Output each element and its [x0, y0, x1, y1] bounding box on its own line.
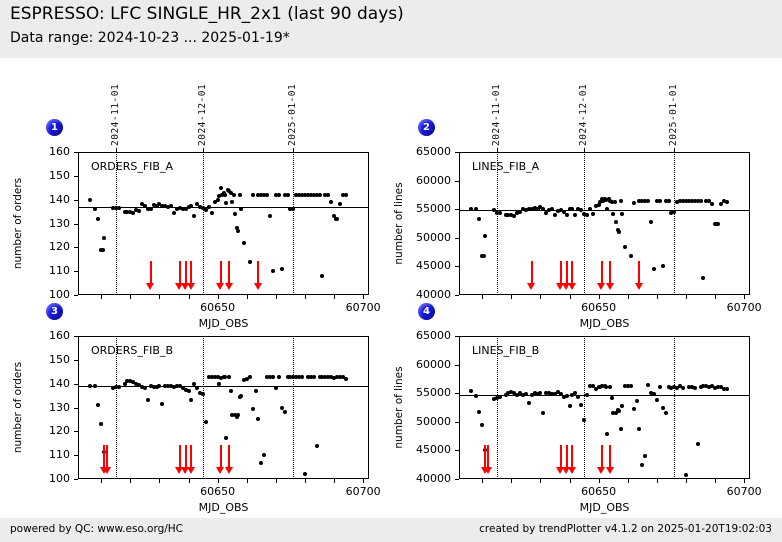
flag-arrow-shaft	[571, 261, 573, 283]
date-gridline-label: 2025-01-01	[287, 74, 298, 146]
y-axis-title: number of lines	[393, 152, 405, 295]
date-gridline	[584, 336, 585, 479]
data-point	[239, 394, 243, 398]
date-gridline	[584, 152, 585, 295]
flag-arrow	[103, 445, 112, 474]
y-tick-label: 40000	[397, 288, 451, 301]
x-tick-label: 60650	[178, 301, 258, 314]
data-point	[300, 375, 304, 379]
data-point	[553, 213, 557, 217]
data-point	[88, 384, 92, 388]
data-point	[232, 193, 236, 197]
y-tick-mark	[74, 479, 78, 480]
x-tick-mark	[363, 479, 364, 483]
x-tick-mark	[159, 479, 160, 483]
y-tick-mark	[74, 271, 78, 272]
data-point	[617, 230, 621, 234]
panel-badge-2[interactable]: 2	[418, 119, 435, 136]
panel-badge-4[interactable]: 4	[418, 303, 435, 320]
y-tick-label: 150	[16, 169, 70, 182]
x-tick-mark	[101, 479, 102, 483]
reference-line	[78, 207, 369, 208]
flag-arrow	[146, 261, 155, 290]
flag-arrow-shaft	[150, 261, 152, 283]
y-tick-mark	[74, 408, 78, 409]
data-point	[579, 403, 583, 407]
flag-arrow-shaft	[609, 261, 611, 283]
top-tick-mark	[584, 148, 585, 152]
flag-arrow-shaft	[228, 445, 230, 467]
y-axis-title: number of orders	[12, 152, 24, 295]
x-tick-mark	[599, 479, 600, 483]
date-gridline	[203, 152, 204, 295]
data-point	[315, 444, 319, 448]
y-tick-label: 100	[16, 472, 70, 485]
data-point	[344, 377, 348, 381]
flag-arrow-shaft	[638, 261, 640, 283]
data-point	[265, 193, 269, 197]
x-tick-label: 60700	[323, 301, 403, 314]
x-tick-label: 60700	[704, 301, 782, 314]
top-tick-mark	[497, 148, 498, 152]
page-title: ESPRESSO: LFC SINGLE_HR_2x1 (last 90 day…	[10, 4, 404, 24]
date-gridline	[293, 336, 294, 479]
flag-arrow	[635, 261, 644, 290]
x-tick-mark	[159, 295, 160, 299]
data-point	[524, 392, 528, 396]
y-tick-label: 40000	[397, 472, 451, 485]
y-tick-mark	[455, 393, 459, 394]
data-point	[696, 442, 700, 446]
flag-arrow	[484, 445, 493, 474]
data-point	[568, 404, 572, 408]
x-tick-mark	[482, 479, 483, 483]
x-axis-title: MJD_OBS	[78, 501, 369, 514]
y-tick-mark	[74, 360, 78, 361]
panel-badge-1[interactable]: 1	[46, 119, 63, 136]
x-tick-mark	[540, 295, 541, 299]
data-point	[217, 382, 221, 386]
y-tick-label: 60000	[397, 174, 451, 187]
flag-arrow	[216, 445, 225, 474]
data-point	[725, 200, 729, 204]
data-point	[469, 207, 473, 211]
data-point	[229, 389, 233, 393]
data-point	[312, 375, 316, 379]
x-tick-mark	[363, 295, 364, 299]
data-point	[576, 395, 580, 399]
data-point	[655, 398, 659, 402]
flag-arrow-head	[254, 283, 262, 290]
x-tick-mark	[628, 295, 629, 299]
x-tick-label: 60650	[178, 485, 258, 498]
date-gridline-label: 2024-11-01	[491, 74, 502, 146]
data-point	[88, 198, 92, 202]
data-point	[149, 207, 153, 211]
x-tick-mark	[599, 295, 600, 299]
y-tick-mark	[455, 422, 459, 423]
top-tick-mark	[116, 148, 117, 152]
date-gridline	[497, 152, 498, 295]
data-point	[565, 213, 569, 217]
flag-arrow-shaft	[257, 261, 259, 283]
series-label: ORDERS_FIB_B	[91, 344, 173, 357]
y-tick-label: 110	[16, 264, 70, 277]
data-point	[477, 410, 481, 414]
flag-arrow-shaft	[601, 261, 603, 283]
data-point	[667, 199, 671, 203]
flag-arrow-head	[568, 467, 576, 474]
flag-arrow-shaft	[601, 445, 603, 467]
date-gridline	[116, 336, 117, 479]
y-axis-title: number of orders	[12, 336, 24, 479]
footer-credit-right: created by trendPlotter v4.1.2 on 2025-0…	[479, 523, 772, 535]
flag-arrow-shaft	[106, 445, 108, 467]
data-point	[277, 193, 281, 197]
flag-arrow-shaft	[487, 445, 489, 467]
flag-arrow-head	[606, 467, 614, 474]
data-point	[649, 220, 653, 224]
data-point	[632, 201, 636, 205]
top-tick-mark	[203, 148, 204, 152]
data-point	[277, 375, 281, 379]
x-tick-mark	[305, 479, 306, 483]
flag-arrow	[597, 445, 606, 474]
x-tick-label: 60650	[559, 301, 639, 314]
y-tick-label: 45000	[397, 259, 451, 272]
data-point	[283, 410, 287, 414]
data-point	[236, 229, 240, 233]
top-tick-mark	[293, 148, 294, 152]
x-tick-mark	[189, 479, 190, 483]
data-point	[242, 241, 246, 245]
flag-arrow-shaft	[609, 445, 611, 467]
flag-arrow	[568, 445, 577, 474]
data-point	[610, 396, 614, 400]
flag-arrow-head	[606, 283, 614, 290]
y-tick-mark	[455, 450, 459, 451]
x-tick-mark	[247, 295, 248, 299]
x-tick-mark	[482, 295, 483, 299]
y-tick-label: 130	[16, 401, 70, 414]
series-label: LINES_FIB_B	[472, 344, 539, 357]
flag-arrow-head	[225, 467, 233, 474]
x-tick-mark	[570, 295, 571, 299]
flag-arrow-shaft	[531, 261, 533, 283]
data-point	[248, 375, 252, 379]
y-tick-label: 55000	[397, 386, 451, 399]
x-tick-mark	[540, 479, 541, 483]
data-point	[172, 211, 176, 215]
data-point	[204, 420, 208, 424]
series-label: ORDERS_FIB_A	[91, 160, 173, 173]
data-point	[227, 375, 231, 379]
y-tick-mark	[455, 365, 459, 366]
data-point	[286, 193, 290, 197]
page-subtitle: Data range: 2024-10-23 ... 2025-01-19*	[10, 30, 290, 46]
flag-arrow	[254, 261, 263, 290]
y-tick-label: 60000	[397, 358, 451, 371]
y-tick-label: 55000	[397, 202, 451, 215]
data-point	[693, 386, 697, 390]
date-gridline	[116, 152, 117, 295]
data-point	[635, 399, 639, 403]
y-tick-label: 100	[16, 288, 70, 301]
data-point	[619, 199, 623, 203]
y-axis-title: number of lines	[393, 336, 405, 479]
data-point	[201, 392, 205, 396]
flag-arrow-shaft	[220, 261, 222, 283]
flag-arrow-shaft	[220, 445, 222, 467]
footer-credit-left: powered by QC: www.eso.org/HC	[10, 523, 183, 535]
footer-band: powered by QC: www.eso.org/HC created by…	[0, 518, 782, 542]
data-point	[585, 213, 589, 217]
y-tick-mark	[455, 152, 459, 153]
y-tick-mark	[74, 455, 78, 456]
flag-arrow	[606, 445, 615, 474]
x-tick-mark	[305, 295, 306, 299]
data-point	[620, 404, 624, 408]
y-tick-label: 45000	[397, 443, 451, 456]
data-point	[699, 199, 703, 203]
x-tick-mark	[686, 479, 687, 483]
x-tick-label: 60650	[559, 485, 639, 498]
date-gridline-label: 2025-01-01	[668, 74, 679, 146]
data-point	[480, 423, 484, 427]
data-point	[597, 203, 601, 207]
data-point	[632, 407, 636, 411]
series-label: LINES_FIB_A	[472, 160, 539, 173]
x-tick-mark	[657, 479, 658, 483]
flag-arrow-shaft	[190, 445, 192, 467]
data-point	[238, 193, 242, 197]
flag-arrow-head	[216, 467, 224, 474]
flag-arrow-head	[597, 467, 605, 474]
x-tick-mark	[657, 295, 658, 299]
date-gridline	[674, 152, 675, 295]
x-tick-mark	[334, 479, 335, 483]
x-tick-mark	[130, 295, 131, 299]
y-tick-mark	[74, 247, 78, 248]
y-tick-mark	[74, 384, 78, 385]
x-tick-mark	[247, 479, 248, 483]
header-band: ESPRESSO: LFC SINGLE_HR_2x1 (last 90 day…	[0, 0, 782, 58]
data-point	[236, 413, 240, 417]
y-tick-label: 160	[16, 145, 70, 158]
date-gridline	[203, 336, 204, 479]
data-point	[169, 204, 173, 208]
data-point	[117, 206, 121, 210]
x-tick-mark	[218, 295, 219, 299]
x-tick-mark	[744, 479, 745, 483]
data-point	[498, 395, 502, 399]
flag-arrow-head	[484, 467, 492, 474]
x-tick-mark	[189, 295, 190, 299]
data-point	[280, 406, 284, 410]
y-tick-mark	[74, 224, 78, 225]
y-tick-label: 120	[16, 240, 70, 253]
flag-arrow-head	[225, 283, 233, 290]
data-point	[117, 385, 121, 389]
y-tick-mark	[455, 266, 459, 267]
flag-arrow	[606, 261, 615, 290]
flag-arrow	[187, 261, 196, 290]
flag-arrow-head	[216, 283, 224, 290]
x-axis-title: MJD_OBS	[459, 317, 750, 330]
data-point	[617, 409, 621, 413]
data-point	[619, 427, 623, 431]
flag-arrow-head	[187, 467, 195, 474]
data-point	[216, 198, 220, 202]
date-gridline-label: 2024-12-01	[197, 74, 208, 146]
y-tick-mark	[74, 176, 78, 177]
x-tick-mark	[276, 479, 277, 483]
reference-line	[459, 395, 750, 396]
x-tick-mark	[101, 295, 102, 299]
x-tick-mark	[218, 479, 219, 483]
data-point	[658, 199, 662, 203]
data-point	[99, 422, 103, 426]
date-gridline	[293, 152, 294, 295]
flag-arrow	[225, 445, 234, 474]
data-point	[623, 245, 627, 249]
x-tick-mark	[511, 295, 512, 299]
y-tick-label: 65000	[397, 145, 451, 158]
data-point	[629, 254, 633, 258]
data-point	[254, 389, 258, 393]
data-point	[219, 186, 223, 190]
x-tick-mark	[511, 479, 512, 483]
y-tick-label: 50000	[397, 231, 451, 244]
data-point	[613, 200, 617, 204]
y-tick-label: 110	[16, 448, 70, 461]
flag-arrow-shaft	[190, 261, 192, 283]
flag-arrow	[216, 261, 225, 290]
flag-arrow	[527, 261, 536, 290]
data-point	[614, 220, 618, 224]
y-tick-label: 150	[16, 353, 70, 366]
y-tick-label: 130	[16, 217, 70, 230]
data-point	[248, 260, 252, 264]
data-point	[318, 193, 322, 197]
y-tick-mark	[455, 238, 459, 239]
data-point	[223, 193, 227, 197]
flag-arrow-head	[103, 467, 111, 474]
flag-arrow-head	[527, 283, 535, 290]
date-gridline	[497, 336, 498, 479]
x-tick-mark	[744, 295, 745, 299]
data-point	[280, 267, 284, 271]
data-point	[661, 406, 665, 410]
x-axis-title: MJD_OBS	[459, 501, 750, 514]
y-tick-mark	[74, 152, 78, 153]
data-point	[251, 407, 255, 411]
data-point	[102, 236, 106, 240]
x-tick-mark	[570, 479, 571, 483]
panel-badge-3[interactable]: 3	[46, 303, 63, 320]
y-tick-label: 140	[16, 377, 70, 390]
x-tick-label: 60700	[323, 485, 403, 498]
data-point	[684, 473, 688, 477]
y-tick-mark	[74, 431, 78, 432]
y-tick-label: 120	[16, 424, 70, 437]
date-gridline	[674, 336, 675, 479]
y-tick-label: 160	[16, 329, 70, 342]
data-point	[344, 193, 348, 197]
x-tick-mark	[715, 295, 716, 299]
y-tick-label: 50000	[397, 415, 451, 428]
data-point	[661, 264, 665, 268]
flag-arrow-shaft	[571, 445, 573, 467]
flag-arrow-shaft	[228, 261, 230, 283]
y-tick-mark	[455, 209, 459, 210]
y-tick-mark	[74, 295, 78, 296]
data-point	[187, 389, 191, 393]
data-point	[716, 222, 720, 226]
data-point	[498, 211, 502, 215]
flag-arrow-head	[568, 283, 576, 290]
data-point	[565, 394, 569, 398]
data-point	[210, 211, 214, 215]
x-axis-title: MJD_OBS	[78, 317, 369, 330]
date-gridline-label: 2024-12-01	[578, 74, 589, 146]
flag-arrow-head	[597, 283, 605, 290]
x-tick-mark	[334, 295, 335, 299]
flag-arrow-head	[187, 283, 195, 290]
y-tick-mark	[455, 295, 459, 296]
flag-arrow	[568, 261, 577, 290]
flag-arrow	[187, 445, 196, 474]
data-point	[251, 193, 255, 197]
y-tick-mark	[455, 336, 459, 337]
flag-arrow	[597, 261, 606, 290]
reference-line	[78, 386, 369, 387]
y-tick-mark	[455, 479, 459, 480]
y-tick-label: 65000	[397, 329, 451, 342]
flag-arrow	[225, 261, 234, 290]
x-tick-label: 60700	[704, 485, 782, 498]
y-tick-mark	[74, 200, 78, 201]
data-point	[652, 267, 656, 271]
x-tick-mark	[715, 479, 716, 483]
flag-arrow-head	[146, 283, 154, 290]
x-tick-mark	[628, 479, 629, 483]
x-tick-mark	[130, 479, 131, 483]
x-tick-mark	[686, 295, 687, 299]
date-gridline-label: 2024-11-01	[110, 74, 121, 146]
data-point	[271, 375, 275, 379]
data-point	[664, 411, 668, 415]
data-point	[620, 212, 624, 216]
flag-arrow-head	[635, 283, 643, 290]
top-tick-mark	[674, 148, 675, 152]
y-tick-mark	[455, 181, 459, 182]
x-tick-mark	[276, 295, 277, 299]
data-point	[725, 387, 729, 391]
y-tick-mark	[74, 336, 78, 337]
y-tick-label: 140	[16, 193, 70, 206]
